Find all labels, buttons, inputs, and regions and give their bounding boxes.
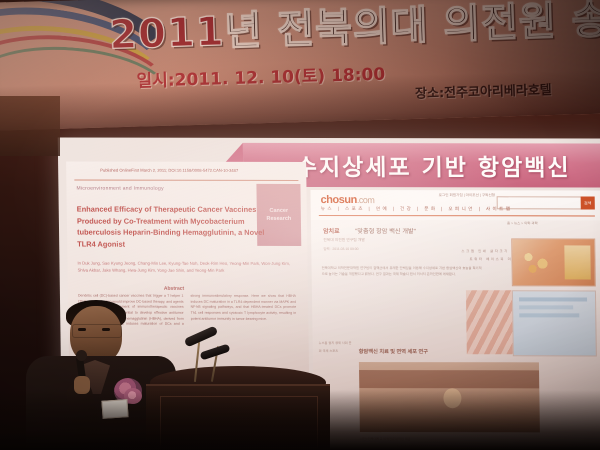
photo-vignette bbox=[0, 0, 600, 450]
conference-photo: 2011년 전북의대 의전원 송년의 밤 일시:2011. 12. 10(토) … bbox=[0, 0, 600, 450]
